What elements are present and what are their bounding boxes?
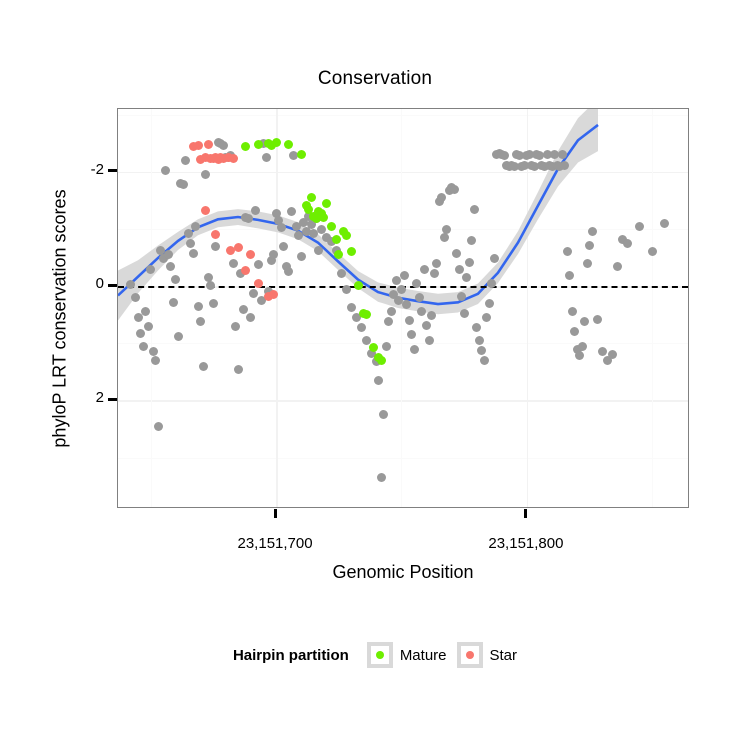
data-point-other	[171, 275, 180, 284]
data-point-other	[420, 265, 429, 274]
y-axis-tick-label: -2	[84, 161, 104, 178]
data-point-other	[402, 300, 411, 309]
data-point-other	[397, 285, 406, 294]
data-point-other	[317, 225, 326, 234]
data-point-other	[144, 322, 153, 331]
data-point-other	[179, 180, 188, 189]
data-point-other	[563, 247, 572, 256]
data-point-other	[239, 305, 248, 314]
data-point-other	[151, 356, 160, 365]
data-point-other	[186, 239, 195, 248]
legend-key-star	[457, 642, 483, 668]
data-point-other	[382, 342, 391, 351]
y-axis-tick	[108, 398, 117, 401]
data-point-other	[613, 262, 622, 271]
data-point-other	[598, 347, 607, 356]
data-point-other	[166, 262, 175, 271]
y-axis-tick-label: 0	[84, 275, 104, 292]
y-axis-tick	[108, 284, 117, 287]
data-point-other	[593, 315, 602, 324]
data-point-other	[149, 347, 158, 356]
data-point-mature	[297, 150, 306, 159]
data-point-other	[357, 323, 366, 332]
x-axis-title: Genomic Position	[117, 562, 689, 583]
x-axis-tick-label: 23,151,800	[456, 535, 596, 552]
data-point-other	[490, 254, 499, 263]
data-point-other	[146, 265, 155, 274]
data-point-other	[297, 252, 306, 261]
data-point-other	[475, 336, 484, 345]
legend-label-mature: Mature	[400, 647, 447, 664]
data-point-other	[635, 222, 644, 231]
data-point-other	[472, 323, 481, 332]
data-point-other	[410, 345, 419, 354]
data-point-other	[588, 227, 597, 236]
data-point-other	[455, 265, 464, 274]
star-dot-icon	[466, 651, 474, 659]
data-point-other	[568, 307, 577, 316]
data-point-other	[415, 293, 424, 302]
data-point-other	[219, 141, 228, 150]
data-point-other	[154, 422, 163, 431]
data-point-other	[500, 151, 509, 160]
data-point-other	[608, 350, 617, 359]
data-point-other	[470, 205, 479, 214]
data-point-mature	[327, 222, 336, 231]
data-point-mature	[272, 138, 281, 147]
data-point-mature	[254, 140, 263, 149]
data-point-star	[254, 279, 263, 288]
data-point-other	[174, 332, 183, 341]
data-point-mature	[284, 140, 293, 149]
data-point-other	[191, 222, 200, 231]
data-point-other	[229, 259, 238, 268]
legend-label-star: Star	[490, 647, 518, 664]
data-point-mature	[362, 310, 371, 319]
data-point-other	[342, 285, 351, 294]
data-point-other	[277, 223, 286, 232]
data-point-other	[578, 342, 587, 351]
data-point-other	[485, 299, 494, 308]
data-point-other	[450, 185, 459, 194]
data-point-other	[194, 302, 203, 311]
data-point-other	[432, 259, 441, 268]
legend-title: Hairpin partition	[233, 647, 349, 664]
data-point-other	[480, 356, 489, 365]
data-point-other	[199, 362, 208, 371]
data-point-other	[209, 299, 218, 308]
data-point-other	[337, 269, 346, 278]
legend-item-mature[interactable]: Mature	[367, 642, 447, 668]
legend-item-star[interactable]: Star	[457, 642, 518, 668]
data-point-other	[412, 279, 421, 288]
x-axis-tick	[524, 509, 527, 518]
data-point-other	[136, 329, 145, 338]
data-point-mature	[322, 199, 331, 208]
mature-dot-icon	[376, 651, 384, 659]
data-point-other	[139, 342, 148, 351]
data-point-other	[211, 242, 220, 251]
data-point-other	[430, 269, 439, 278]
data-point-other	[254, 260, 263, 269]
data-point-mature	[332, 235, 341, 244]
data-point-star	[234, 243, 243, 252]
data-point-mature	[377, 356, 386, 365]
data-point-other	[477, 346, 486, 355]
y-axis-title: phyloP LRT conservation scores	[50, 119, 71, 519]
data-point-other	[405, 316, 414, 325]
data-point-other	[206, 281, 215, 290]
data-point-other	[262, 153, 271, 162]
data-point-other	[452, 249, 461, 258]
data-point-other	[169, 298, 178, 307]
x-axis-tick	[274, 509, 277, 518]
data-point-other	[184, 229, 193, 238]
data-point-other	[425, 336, 434, 345]
data-point-other	[422, 321, 431, 330]
legend: Hairpin partition Mature Star	[0, 642, 750, 668]
data-point-other	[287, 207, 296, 216]
data-point-other	[558, 150, 567, 159]
data-point-other	[377, 473, 386, 482]
data-point-other	[585, 241, 594, 250]
x-axis-tick-label: 23,151,700	[205, 535, 345, 552]
data-point-mature	[354, 281, 363, 290]
data-point-other	[279, 242, 288, 251]
data-point-other	[442, 225, 451, 234]
data-point-other	[583, 259, 592, 268]
data-point-other	[249, 289, 258, 298]
data-point-mature	[307, 193, 316, 202]
data-point-other	[164, 250, 173, 259]
data-point-other	[623, 239, 632, 248]
data-point-other	[126, 280, 135, 289]
data-point-other	[440, 233, 449, 242]
data-point-other	[189, 249, 198, 258]
data-point-star	[204, 140, 213, 149]
page-title: Conservation	[0, 68, 750, 90]
data-point-other	[284, 267, 293, 276]
data-point-other	[400, 271, 409, 280]
data-point-other	[234, 365, 243, 374]
data-point-other	[460, 309, 469, 318]
y-axis-tick	[108, 169, 117, 172]
y-axis-tick-label: 2	[84, 389, 104, 406]
legend-key-mature	[367, 642, 393, 668]
plot-panel	[117, 108, 689, 508]
data-point-other	[465, 258, 474, 267]
data-point-star	[194, 141, 203, 150]
plot-canvas	[118, 109, 688, 507]
